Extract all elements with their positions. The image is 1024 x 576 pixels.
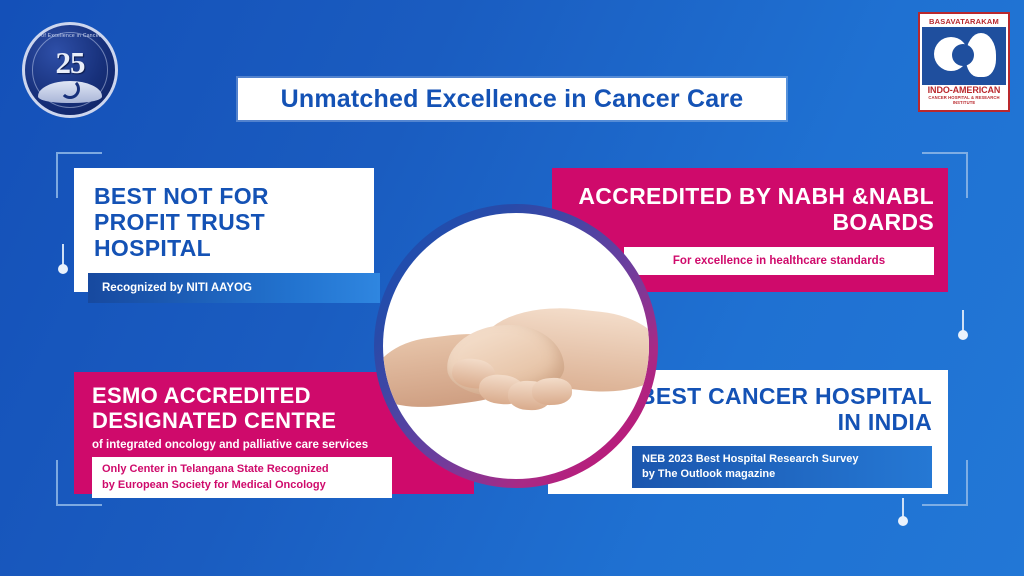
hospital-hands-logo-icon bbox=[922, 27, 1006, 85]
page-title: Unmatched Excellence in Cancer Care bbox=[238, 78, 786, 120]
card-badge-text: Recognized by NITI AAYOG bbox=[102, 282, 252, 294]
anniversary-seal-icon: Years of Excellence in Cancer Care 25 bbox=[22, 22, 118, 118]
hospital-logo-top-text: BASAVATARAKAM bbox=[922, 16, 1006, 27]
card-best-not-for-profit: BEST NOT FOR PROFIT TRUST HOSPITAL Recog… bbox=[74, 168, 374, 292]
pin-marker-left bbox=[62, 244, 64, 266]
card-title-line-2: IN INDIA bbox=[838, 409, 932, 435]
anniversary-arc-text: Years of Excellence in Cancer Care bbox=[25, 33, 115, 39]
clasped-hands-image bbox=[383, 213, 649, 479]
center-circle-frame bbox=[374, 204, 658, 488]
hospital-logo-bottom-text: INDO-AMERICAN bbox=[922, 85, 1006, 95]
card-badge-line-1: Only Center in Telangana State Recognize… bbox=[102, 462, 382, 477]
card-badge-line-2: by The Outlook magazine bbox=[642, 467, 922, 482]
anniversary-years: 25 bbox=[25, 45, 115, 81]
card-badge-line-1: NEB 2023 Best Hospital Research Survey bbox=[642, 452, 922, 467]
status-badge: Only Center in Telangana State Recognize… bbox=[92, 457, 392, 498]
pin-marker-bottom-right bbox=[902, 498, 904, 518]
card-badge-text: For excellence in healthcare standards bbox=[673, 255, 885, 267]
hospital-logo-subtitle: CANCER HOSPITAL & RESEARCH INSTITUTE bbox=[922, 95, 1006, 105]
card-title-line-1: BEST CANCER HOSPITAL bbox=[639, 383, 932, 409]
status-badge: Recognized by NITI AAYOG bbox=[88, 273, 380, 303]
status-badge: NEB 2023 Best Hospital Research Survey b… bbox=[632, 446, 932, 489]
card-title: BEST NOT FOR PROFIT TRUST HOSPITAL bbox=[94, 184, 354, 261]
status-badge: For excellence in healthcare standards bbox=[624, 247, 934, 275]
card-subtitle: of integrated oncology and palliative ca… bbox=[92, 439, 456, 451]
pin-marker-right bbox=[962, 310, 964, 332]
card-badge-line-2: by European Society for Medical Oncology bbox=[102, 478, 382, 493]
page-title-text: Unmatched Excellence in Cancer Care bbox=[281, 85, 744, 114]
card-title: ACCREDITED BY NABH &NABL BOARDS bbox=[572, 184, 934, 236]
hospital-logo: BASAVATARAKAM INDO-AMERICAN CANCER HOSPI… bbox=[918, 12, 1010, 112]
